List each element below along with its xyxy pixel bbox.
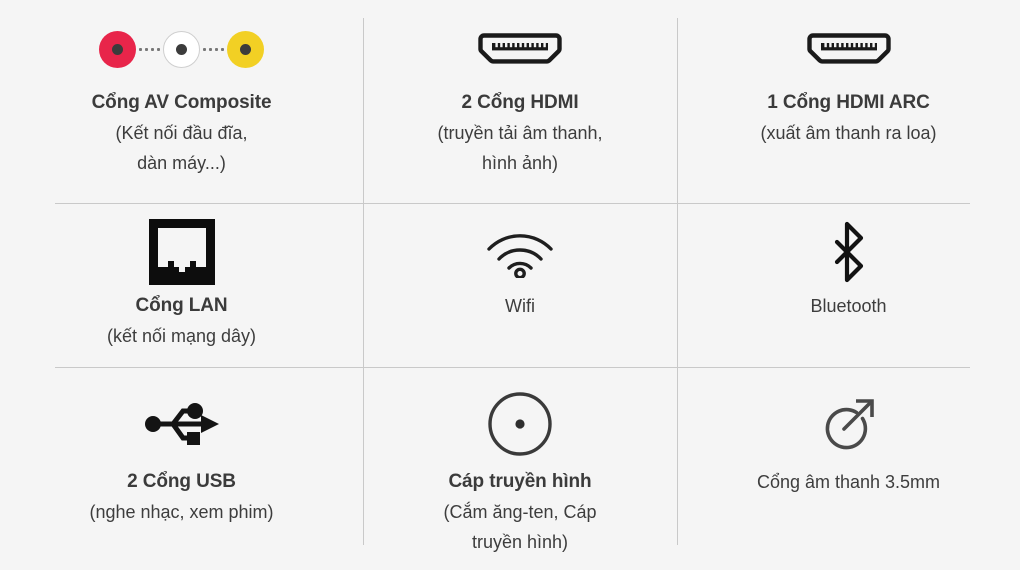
spec-title-usb: 2 Cổng USB — [127, 467, 236, 497]
spec-subtitle-lan-line1: (kết nối mạng dây) — [107, 321, 256, 351]
spec-cell-av-composite: Cổng AV Composite (Kết nối đầu đĩa, dàn … — [0, 0, 363, 203]
spec-label-bluetooth: Bluetooth — [810, 291, 886, 321]
spec-cell-audio-jack: Cổng âm thanh 3.5mm — [677, 367, 1020, 570]
av-dotted-connector-right — [200, 48, 227, 51]
spec-cell-lan: Cổng LAN (kết nối mạng dây) — [0, 203, 363, 367]
av-pin-white — [176, 44, 187, 55]
av-pin-yellow — [240, 44, 251, 55]
av-plug-white — [163, 31, 200, 68]
audio-jack-icon-wrap — [818, 385, 880, 463]
bluetooth-icon-wrap — [827, 217, 871, 287]
spec-subtitle-coaxial-line2: truyền hình) — [472, 527, 568, 557]
spec-cell-wifi: Wifi — [363, 203, 677, 367]
spec-subtitle-hdmi-line1: (truyền tải âm thanh, — [437, 118, 602, 148]
hdmi-port-icon — [478, 31, 562, 67]
spec-title-lan: Cổng LAN — [135, 291, 227, 321]
spec-cell-hdmi-arc: 1 Cổng HDMI ARC (xuất âm thanh ra loa) — [677, 0, 1020, 203]
av-dotted-connector-left — [136, 48, 163, 51]
spec-subtitle-av-composite-line2: dàn máy...) — [137, 148, 226, 178]
spec-label-audio-jack: Cổng âm thanh 3.5mm — [757, 467, 940, 497]
usb-port-icon — [143, 397, 221, 451]
av-plug-yellow — [227, 31, 264, 68]
usb-port-icon-wrap — [143, 385, 221, 463]
spec-subtitle-hdmi-line2: hình ảnh) — [482, 148, 558, 178]
av-composite-icon — [99, 31, 264, 68]
av-pin-red — [112, 44, 123, 55]
hdmi-arc-port-icon — [807, 31, 891, 67]
spec-subtitle-usb-line1: (nghe nhạc, xem phim) — [89, 497, 273, 527]
spec-cell-usb: 2 Cổng USB (nghe nhạc, xem phim) — [0, 367, 363, 570]
spec-label-wifi: Wifi — [505, 291, 535, 321]
spec-title-coaxial: Cáp truyền hình — [448, 467, 591, 497]
spec-title-av-composite: Cổng AV Composite — [92, 88, 272, 118]
audio-jack-icon — [818, 393, 880, 455]
lan-port-icon-wrap — [149, 217, 215, 287]
av-composite-icon-wrap — [99, 18, 264, 80]
lan-port-icon — [149, 219, 215, 285]
spec-subtitle-coaxial-line1: (Cắm ăng-ten, Cáp — [443, 497, 596, 527]
spec-subtitle-av-composite-line1: (Kết nối đầu đĩa, — [115, 118, 247, 148]
coaxial-cable-icon — [486, 390, 554, 458]
spec-cell-bluetooth: Bluetooth — [677, 203, 1020, 367]
connectivity-spec-grid: Cổng AV Composite (Kết nối đầu đĩa, dàn … — [0, 0, 1020, 570]
spec-cell-coaxial: Cáp truyền hình (Cắm ăng-ten, Cáp truyền… — [363, 367, 677, 570]
spec-title-hdmi-arc: 1 Cổng HDMI ARC — [767, 88, 929, 118]
wifi-icon-wrap — [484, 217, 556, 287]
av-plug-red — [99, 31, 136, 68]
spec-subtitle-hdmi-arc-line1: (xuất âm thanh ra loa) — [760, 118, 936, 148]
wifi-icon — [484, 226, 556, 278]
hdmi-port-icon-wrap — [478, 18, 562, 80]
spec-title-hdmi: 2 Cổng HDMI — [461, 88, 578, 118]
coaxial-cable-icon-wrap — [486, 385, 554, 463]
hdmi-arc-port-icon-wrap — [807, 18, 891, 80]
bluetooth-icon — [827, 221, 871, 283]
spec-cell-hdmi: 2 Cổng HDMI (truyền tải âm thanh, hình ả… — [363, 0, 677, 203]
